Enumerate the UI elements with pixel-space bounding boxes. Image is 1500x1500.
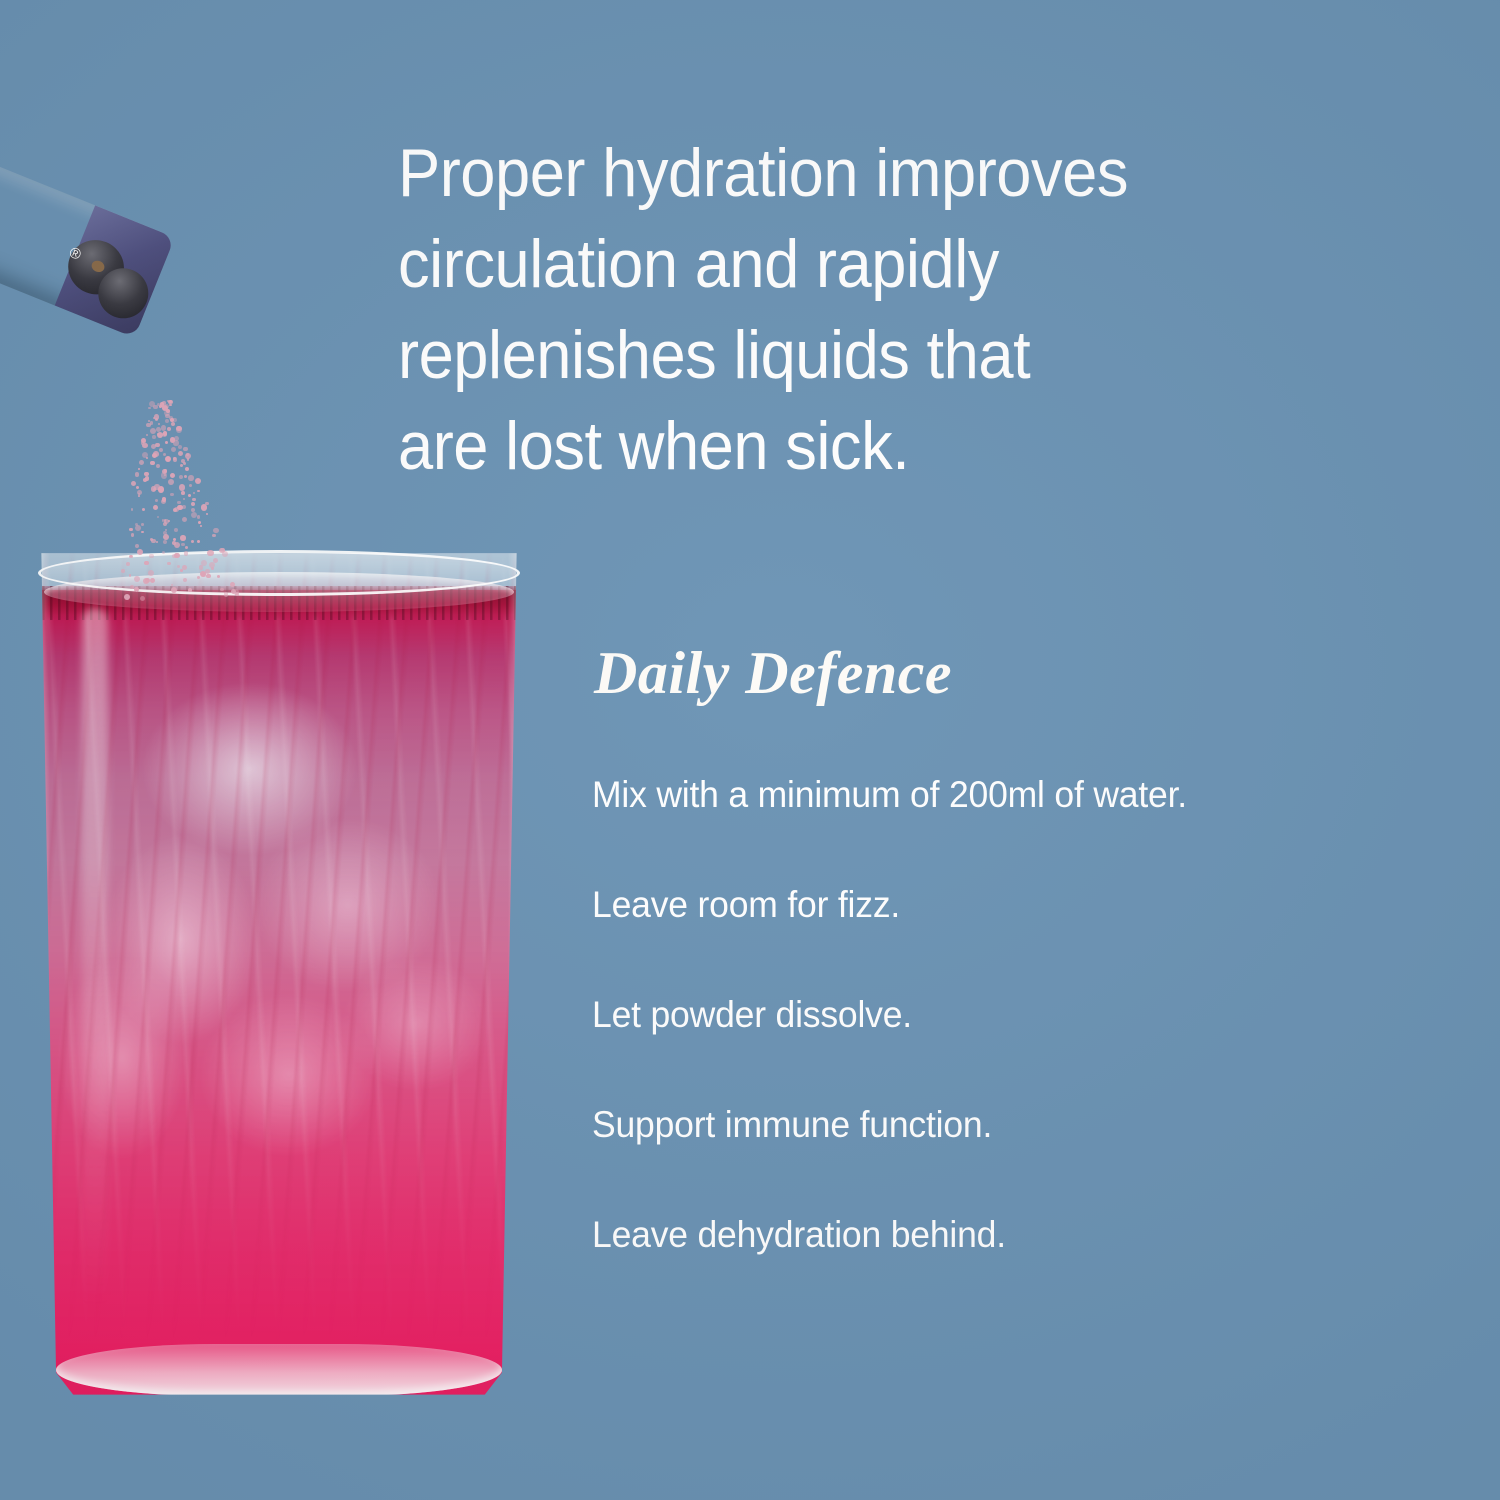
powder-grain <box>182 505 186 509</box>
powder-grain <box>163 531 167 535</box>
powder-grain <box>197 515 201 519</box>
powder-grain <box>157 433 159 435</box>
powder-grain <box>191 540 194 543</box>
list-item: Leave dehydration behind. <box>592 1212 1437 1258</box>
powder-grain <box>164 469 168 473</box>
powder-grain <box>170 473 175 478</box>
powder-grain <box>164 519 166 521</box>
powder-grain <box>143 478 147 482</box>
powder-grain <box>177 505 183 511</box>
powder-grain <box>188 494 191 497</box>
powder-grain <box>153 417 155 419</box>
list-item: Leave room for fizz. <box>592 882 1437 928</box>
powder-grain <box>156 427 161 432</box>
powder-grain <box>184 475 187 478</box>
powder-grain <box>151 539 156 544</box>
powder-grain <box>165 441 168 444</box>
powder-grain <box>131 508 134 511</box>
glass-highlight <box>82 608 108 1308</box>
powder-grain <box>162 432 167 437</box>
powder-grain <box>153 405 158 410</box>
powder-grain <box>141 438 146 443</box>
powder-grain <box>177 501 181 505</box>
powder-grain <box>174 507 179 512</box>
powder-grain <box>149 401 155 407</box>
powder-grain <box>155 418 158 421</box>
powder-grain <box>186 453 189 456</box>
powder-grain <box>141 441 145 445</box>
powder-grain <box>183 498 185 500</box>
powder-grain <box>153 505 158 510</box>
powder-grain <box>168 479 174 485</box>
powder-grain <box>161 499 166 504</box>
powder-grain <box>173 457 176 460</box>
powder-grain <box>165 456 171 462</box>
powder-grain <box>173 457 178 462</box>
powder-grain <box>129 528 132 531</box>
powder-grain <box>173 508 177 512</box>
powder-grain <box>205 502 209 506</box>
powder-grain <box>180 535 185 540</box>
powder-grain <box>164 519 169 524</box>
powder-grain <box>213 528 219 534</box>
list-item: Support immune function. <box>592 1102 1437 1148</box>
powder-grain <box>159 488 162 491</box>
powder-grain <box>161 425 167 431</box>
powder-grain <box>189 484 192 487</box>
powder-grain <box>191 508 195 512</box>
powder-grain <box>173 538 177 542</box>
powder-grain <box>156 541 158 543</box>
powder-grain <box>151 444 156 449</box>
powder-grain <box>161 472 167 478</box>
powder-grain <box>183 462 186 465</box>
powder-grain <box>201 504 208 511</box>
powder-grain <box>170 437 176 443</box>
powder-grain <box>146 457 149 460</box>
powder-grain <box>146 434 148 436</box>
powder-grain <box>178 445 182 449</box>
powder-grain <box>169 416 174 421</box>
powder-grain <box>169 400 172 403</box>
powder-grain <box>150 538 154 542</box>
powder-grain <box>192 498 196 502</box>
powder-grain <box>138 468 140 470</box>
powder-grain <box>154 414 160 420</box>
powder-grain <box>169 404 172 407</box>
powder-grain <box>163 534 169 540</box>
powder-grain <box>157 516 160 519</box>
powder-grain <box>187 458 190 461</box>
powder-grain <box>172 541 176 545</box>
powder-grain <box>173 440 179 446</box>
powder-grain <box>131 481 136 486</box>
powder-grain <box>153 488 156 491</box>
powder-grain <box>176 426 182 432</box>
powder-grain <box>198 521 201 524</box>
powder-grain <box>162 405 168 411</box>
glass-base <box>56 1344 502 1396</box>
powder-grain <box>179 475 183 479</box>
powder-grain <box>167 400 169 402</box>
product-marketing-image: tePlus ® Proper hydration improves circu… <box>0 0 1500 1500</box>
powder-grain <box>179 484 186 491</box>
powder-grain <box>148 407 151 410</box>
powder-grain <box>165 419 169 423</box>
powder-grain <box>135 523 138 526</box>
powder-grain <box>141 531 144 534</box>
powder-grain <box>172 418 177 423</box>
powder-grain <box>162 519 165 522</box>
powder-grain <box>156 464 160 468</box>
powder-grain <box>163 540 167 544</box>
powder-grain <box>176 426 182 432</box>
powder-grain <box>142 452 148 458</box>
powder-grain <box>174 436 179 441</box>
powder-grain <box>142 508 145 511</box>
powder-grain <box>200 525 202 527</box>
powder-grain <box>168 520 170 522</box>
powder-grain <box>152 435 156 439</box>
powder-grain <box>206 513 208 515</box>
powder-grain <box>138 495 140 497</box>
powder-grain <box>145 476 150 481</box>
product-sachet: tePlus ® <box>0 137 175 338</box>
page-title: Proper hydration improves circulation an… <box>398 128 1291 492</box>
powder-grain <box>157 432 163 438</box>
powder-grain <box>183 447 188 452</box>
powder-grain <box>174 528 178 532</box>
powder-grain <box>135 525 141 531</box>
powder-grain <box>171 422 175 426</box>
powder-grain <box>162 406 166 410</box>
powder-grain <box>165 529 167 531</box>
powder-grain <box>182 517 187 522</box>
powder-grain <box>131 533 135 537</box>
powder-grain <box>155 443 160 448</box>
powder-grain <box>163 453 166 456</box>
list-item: Mix with a minimum of 200ml of water. <box>592 772 1437 818</box>
powder-grain <box>153 451 159 457</box>
powder-grain <box>162 401 166 405</box>
powder-grain <box>143 441 146 444</box>
powder-grain <box>137 490 142 495</box>
powder-grain <box>142 443 148 449</box>
powder-grain <box>165 414 170 419</box>
sachet-brand-label: tePlus <box>0 152 3 247</box>
powder-grain <box>185 467 189 471</box>
powder-grain <box>197 490 200 493</box>
powder-grain <box>148 420 150 422</box>
powder-grain <box>150 428 156 434</box>
powder-grain <box>135 472 140 477</box>
drink-glass <box>34 548 524 1408</box>
powder-grain <box>181 543 185 547</box>
powder-grain <box>164 410 170 416</box>
powder-grain <box>191 512 197 518</box>
powder-grain <box>162 497 166 501</box>
powder-grain <box>188 475 194 481</box>
powder-grain <box>163 522 168 527</box>
instruction-list: Mix with a minimum of 200ml of water. Le… <box>592 772 1472 1258</box>
powder-grain <box>158 486 164 492</box>
powder-grain <box>197 540 200 543</box>
powder-grain <box>144 472 148 476</box>
powder-grain <box>162 469 167 474</box>
powder-grain <box>178 451 183 456</box>
powder-grain <box>164 404 169 409</box>
section-title: Daily Defence <box>594 639 952 707</box>
powder-grain <box>195 478 201 484</box>
powder-grain <box>160 402 165 407</box>
powder-grain <box>212 534 216 538</box>
powder-grain <box>193 492 196 495</box>
powder-grain <box>164 474 166 476</box>
powder-grain <box>171 447 176 452</box>
blackcurrant-graphic <box>55 205 175 337</box>
powder-grain <box>155 499 158 502</box>
glass-rim <box>38 550 520 596</box>
powder-grain <box>141 523 144 526</box>
powder-grain <box>136 486 140 490</box>
powder-grain <box>181 459 186 464</box>
list-item: Let powder dissolve. <box>592 992 1437 1038</box>
powder-grain <box>150 461 154 465</box>
hand-holding-sachet: tePlus ® <box>0 82 227 500</box>
powder-grain <box>181 491 185 495</box>
powder-grain <box>167 427 171 431</box>
powder-grain <box>166 409 170 413</box>
powder-grain <box>159 405 162 408</box>
powder-grain <box>151 486 157 492</box>
powder-grain <box>152 453 157 458</box>
powder-grain <box>185 453 191 459</box>
glass-body <box>34 548 524 1398</box>
powder-grain <box>138 493 140 495</box>
powder-grain <box>158 423 160 425</box>
powder-grain <box>157 403 160 406</box>
powder-grain <box>168 400 172 404</box>
powder-grain <box>180 464 183 467</box>
powder-grain <box>159 448 164 453</box>
powder-grain <box>163 431 168 436</box>
powder-grain <box>154 484 159 489</box>
powder-grain <box>150 421 154 425</box>
powder-grain <box>170 493 174 497</box>
powder-grain <box>139 460 144 465</box>
powder-grain <box>146 423 151 428</box>
powder-grain <box>191 502 195 506</box>
powder-grain <box>170 418 174 422</box>
